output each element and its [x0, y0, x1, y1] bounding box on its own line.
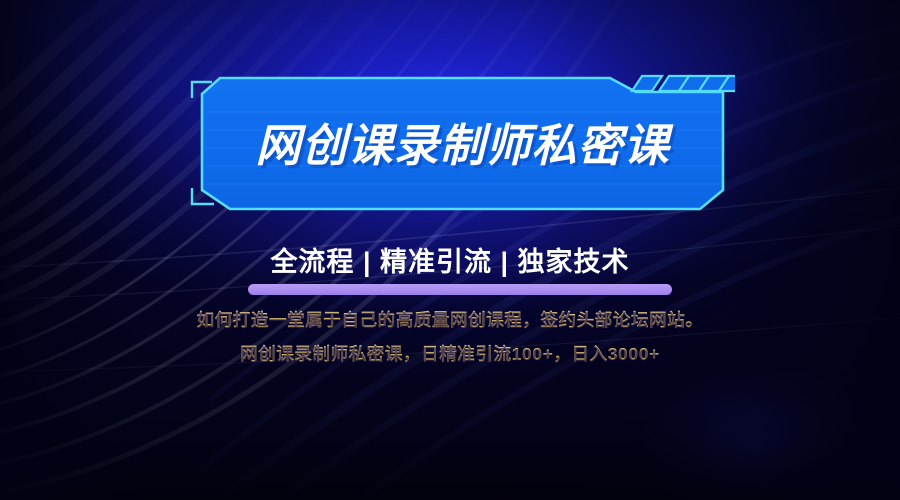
page-title: 网创课录制师私密课 [190, 72, 735, 215]
body-line-1: 如何打造一堂属于自己的高质量网创课程，签约头部论坛网站。 [0, 303, 900, 337]
subtitle-underline [248, 284, 672, 295]
body-copy: 如何打造一堂属于自己的高质量网创课程，签约头部论坛网站。 网创课录制师私密课，日… [0, 303, 900, 371]
subtitle-block: 全流程 | 精准引流 | 独家技术 [0, 240, 900, 279]
title-banner: 网创课录制师私密课 [190, 72, 735, 215]
promo-poster: 网创课录制师私密课 全流程 | 精准引流 | 独家技术 如何打造一堂属于自己的高… [0, 0, 900, 500]
subtitle-text: 全流程 | 精准引流 | 独家技术 [270, 240, 629, 279]
body-line-2: 网创课录制师私密课，日精准引流100+，日入3000+ [0, 337, 900, 371]
